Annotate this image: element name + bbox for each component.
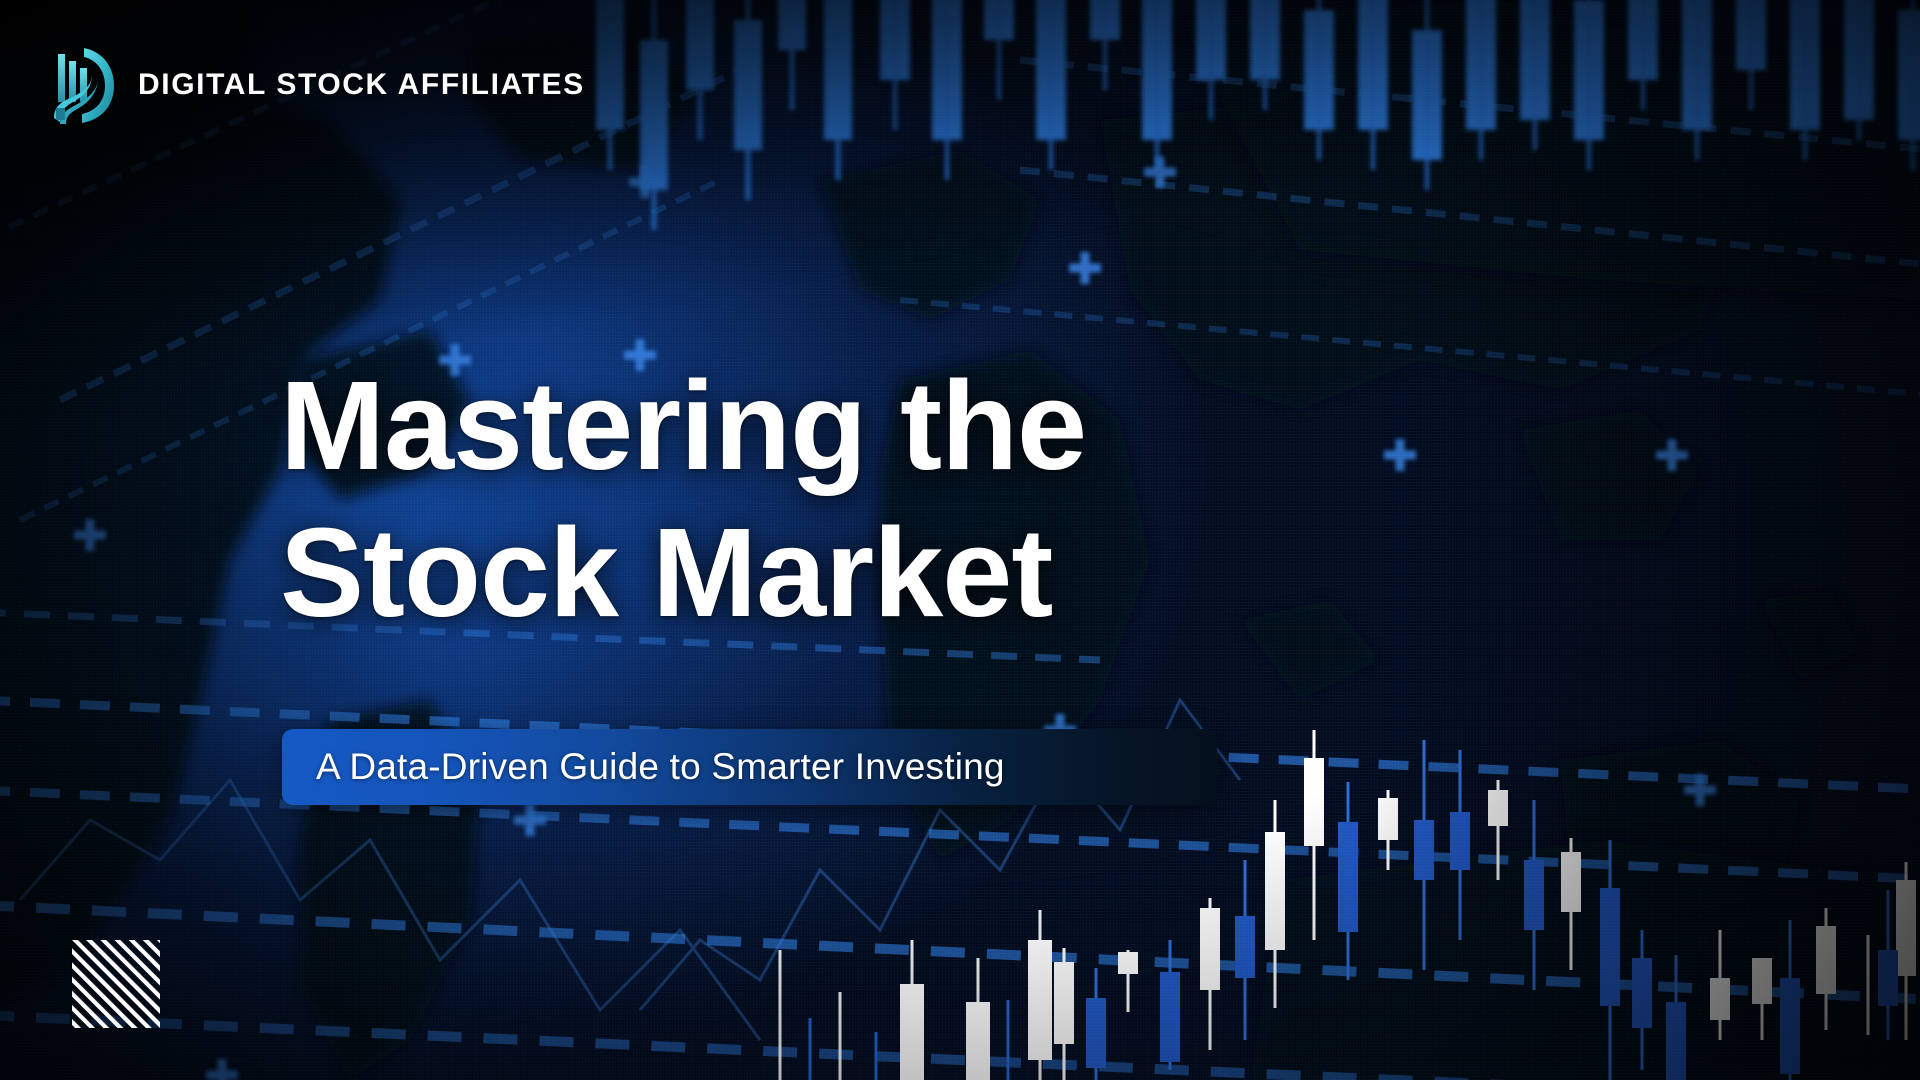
- subtitle-text: A Data-Driven Guide to Smarter Investing: [282, 746, 1005, 788]
- headline-line-1: Mastering the: [280, 352, 1086, 499]
- diagonal-stripe-square-icon: [72, 940, 160, 1028]
- brand-lockup: DIGITAL STOCK AFFILIATES: [44, 44, 585, 126]
- candlestick-chart-background-top: [580, 0, 1920, 260]
- hero-banner: DIGITAL STOCK AFFILIATES Mastering the S…: [0, 0, 1920, 1080]
- page-title: Mastering the Stock Market: [280, 352, 1086, 647]
- subtitle-banner: A Data-Driven Guide to Smarter Investing: [282, 729, 1217, 805]
- headline-line-2: Stock Market: [280, 499, 1086, 646]
- brand-name: DIGITAL STOCK AFFILIATES: [138, 68, 585, 102]
- digital-stock-affiliates-logo-icon: [44, 44, 116, 126]
